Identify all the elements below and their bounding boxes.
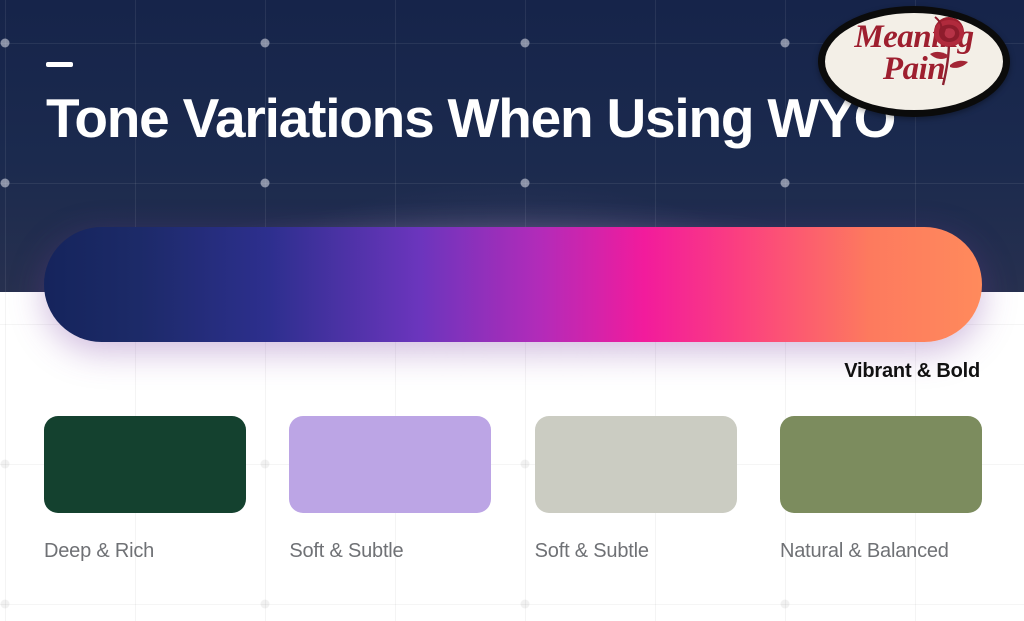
- swatch-chip-natural-balanced[interactable]: [780, 416, 982, 513]
- swatch-chip-soft-subtle-purple[interactable]: [289, 416, 491, 513]
- eyebrow-dash: [46, 62, 73, 67]
- swatch-chip-deep-rich[interactable]: [44, 416, 246, 513]
- gradient-bar-label: Vibrant & Bold: [844, 360, 980, 383]
- swatch-row: Deep & Rich Soft & Subtle Soft & Subtle …: [44, 416, 982, 563]
- swatch-item[interactable]: Soft & Subtle: [535, 416, 737, 563]
- swatch-chip-soft-subtle-sage[interactable]: [535, 416, 737, 513]
- rose-icon: [915, 15, 977, 89]
- swatch-item[interactable]: Deep & Rich: [44, 416, 246, 563]
- swatch-item[interactable]: Natural & Balanced: [780, 416, 982, 563]
- swatch-label: Natural & Balanced: [780, 540, 982, 563]
- swatch-label: Soft & Subtle: [289, 540, 491, 563]
- swatch-label: Deep & Rich: [44, 540, 246, 563]
- meaning-pain-logo[interactable]: Meaning Pain: [818, 6, 1010, 117]
- gradient-bar: [44, 227, 982, 342]
- swatch-item[interactable]: Soft & Subtle: [289, 416, 491, 563]
- slide-canvas: Tone Variations When Using WYO Meaning P…: [0, 0, 1024, 621]
- swatch-label: Soft & Subtle: [535, 540, 737, 563]
